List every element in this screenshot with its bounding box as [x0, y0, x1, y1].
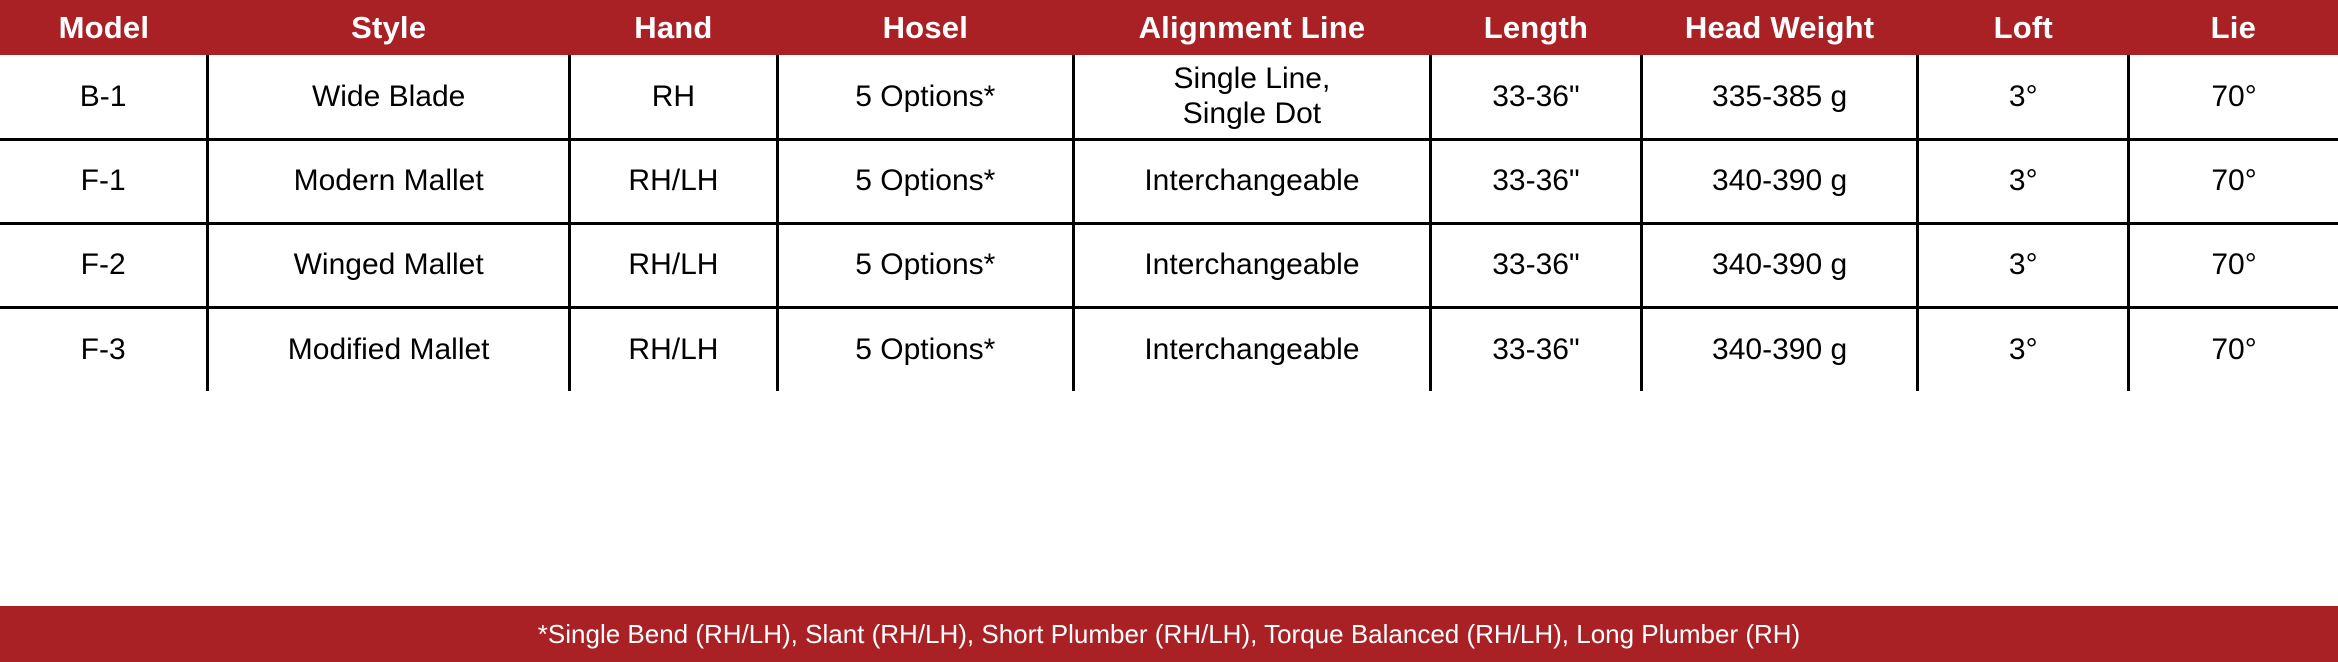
column-header-lie: Lie — [2129, 0, 2338, 55]
column-header-loft: Loft — [1918, 0, 2129, 55]
cell-lie: 70° — [2129, 223, 2338, 307]
cell-head-weight: 340-390 g — [1641, 307, 1918, 391]
cell-hand: RH/LH — [570, 223, 778, 307]
cell-hosel: 5 Options* — [777, 223, 1073, 307]
column-header-hosel: Hosel — [777, 0, 1073, 55]
putter-spec-table-container: Model Style Hand Hosel Alignment Line Le… — [0, 0, 2338, 662]
cell-length: 33-36" — [1431, 307, 1642, 391]
cell-hosel: 5 Options* — [777, 139, 1073, 223]
column-header-hand: Hand — [570, 0, 778, 55]
cell-lie: 70° — [2129, 55, 2338, 139]
putter-specifications-table: Model Style Hand Hosel Alignment Line Le… — [0, 0, 2338, 391]
table-body-area: Model Style Hand Hosel Alignment Line Le… — [0, 0, 2338, 606]
alignment-line-part-1: Single Line, — [1081, 61, 1423, 96]
cell-length: 33-36" — [1431, 139, 1642, 223]
alignment-line-part-2: Single Dot — [1081, 96, 1423, 131]
cell-loft: 3° — [1918, 223, 2129, 307]
cell-hosel: 5 Options* — [777, 55, 1073, 139]
cell-style: Modified Mallet — [208, 307, 570, 391]
column-header-length: Length — [1431, 0, 1642, 55]
cell-head-weight: 340-390 g — [1641, 139, 1918, 223]
cell-lie: 70° — [2129, 307, 2338, 391]
table-row: F-1 Modern Mallet RH/LH 5 Options* Inter… — [0, 139, 2338, 223]
cell-length: 33-36" — [1431, 55, 1642, 139]
cell-alignment-line: Single Line, Single Dot — [1073, 55, 1430, 139]
table-body: B-1 Wide Blade RH 5 Options* Single Line… — [0, 55, 2338, 391]
cell-model: F-2 — [0, 223, 208, 307]
cell-head-weight: 340-390 g — [1641, 223, 1918, 307]
column-header-alignment-line: Alignment Line — [1073, 0, 1430, 55]
cell-hand: RH/LH — [570, 139, 778, 223]
hosel-options-footnote: *Single Bend (RH/LH), Slant (RH/LH), Sho… — [538, 619, 1800, 650]
column-header-head-weight: Head Weight — [1641, 0, 1918, 55]
table-row: F-3 Modified Mallet RH/LH 5 Options* Int… — [0, 307, 2338, 391]
cell-head-weight: 335-385 g — [1641, 55, 1918, 139]
table-row: F-2 Winged Mallet RH/LH 5 Options* Inter… — [0, 223, 2338, 307]
cell-loft: 3° — [1918, 139, 2129, 223]
cell-alignment-line: Interchangeable — [1073, 307, 1430, 391]
table-header: Model Style Hand Hosel Alignment Line Le… — [0, 0, 2338, 55]
cell-lie: 70° — [2129, 139, 2338, 223]
cell-style: Wide Blade — [208, 55, 570, 139]
column-header-style: Style — [208, 0, 570, 55]
cell-hand: RH — [570, 55, 778, 139]
cell-hand: RH/LH — [570, 307, 778, 391]
cell-alignment-line: Interchangeable — [1073, 139, 1430, 223]
cell-model: B-1 — [0, 55, 208, 139]
cell-model: F-1 — [0, 139, 208, 223]
cell-loft: 3° — [1918, 307, 2129, 391]
cell-alignment-line: Interchangeable — [1073, 223, 1430, 307]
cell-style: Winged Mallet — [208, 223, 570, 307]
table-header-row: Model Style Hand Hosel Alignment Line Le… — [0, 0, 2338, 55]
cell-model: F-3 — [0, 307, 208, 391]
table-footnote-band: *Single Bend (RH/LH), Slant (RH/LH), Sho… — [0, 606, 2338, 662]
cell-hosel: 5 Options* — [777, 307, 1073, 391]
cell-loft: 3° — [1918, 55, 2129, 139]
table-row: B-1 Wide Blade RH 5 Options* Single Line… — [0, 55, 2338, 139]
cell-style: Modern Mallet — [208, 139, 570, 223]
column-header-model: Model — [0, 0, 208, 55]
cell-length: 33-36" — [1431, 223, 1642, 307]
